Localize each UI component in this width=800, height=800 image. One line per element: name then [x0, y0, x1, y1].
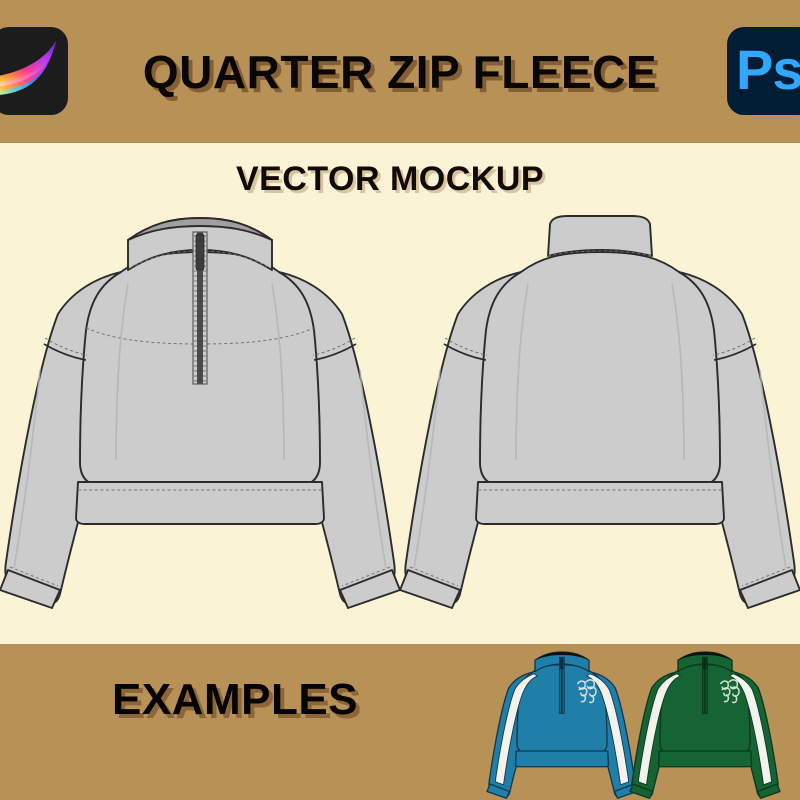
page-title: QUARTER ZIP FLEECE	[0, 0, 800, 143]
example-blue-garment	[487, 648, 637, 800]
front-garment-illustration	[0, 210, 400, 610]
examples-label: EXAMPLES	[0, 675, 470, 725]
zipper	[193, 232, 207, 384]
zipper	[702, 657, 707, 713]
photoshop-label: Ps	[736, 37, 800, 102]
mockup-page: QUARTER ZIP FLEECE Ps VECTOR MOCKUP	[0, 0, 800, 800]
vector-mockup-subtitle: VECTOR MOCKUP	[0, 160, 800, 199]
back-garment-illustration	[400, 210, 800, 610]
example-green-garment	[630, 648, 780, 800]
photoshop-icon: Ps	[727, 27, 800, 115]
zipper	[559, 657, 564, 713]
